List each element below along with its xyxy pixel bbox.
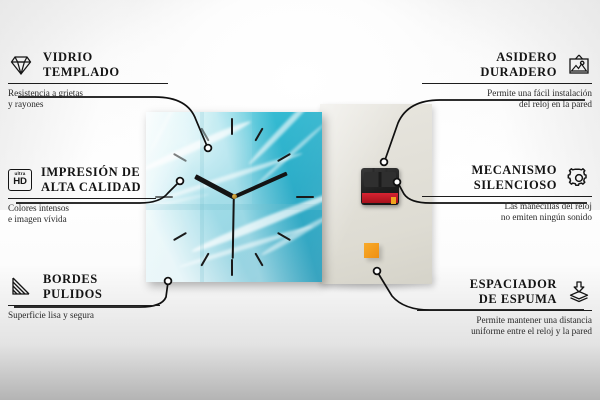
feature-divider <box>8 83 168 84</box>
feature-title: IMPRESIÓN DE ALTA CALIDAD <box>41 165 141 194</box>
feature-description: Resistencia a grietas y rayones <box>8 88 208 111</box>
feature-vidrio-templado: VIDRIO TEMPLADO Resistencia a grietas y … <box>8 50 208 111</box>
feature-impresion-alta-calidad: ultra HD IMPRESIÓN DE ALTA CALIDAD Color… <box>8 165 208 226</box>
diamond-icon <box>8 53 34 77</box>
connector-endpoint <box>205 145 212 152</box>
feature-title: ASIDERO DURADERO <box>480 50 557 79</box>
arrow-onto-layers-icon <box>566 280 592 304</box>
feature-divider <box>417 310 592 311</box>
connector-endpoint <box>374 268 381 275</box>
feature-mecanismo-silencioso: MECANISMO SILENCIOSO Las manecillas del … <box>392 163 592 224</box>
feature-asidero-duradero: ASIDERO DURADERO Permite una fácil insta… <box>392 50 592 111</box>
feature-bordes-pulidos: BORDES PULIDOS Superficie lisa y segura <box>8 272 208 321</box>
feature-title: ESPACIADOR DE ESPUMA <box>470 277 557 306</box>
feature-description: Superficie lisa y segura <box>8 310 208 321</box>
feature-title: BORDES PULIDOS <box>43 272 102 301</box>
feature-espaciador-espuma: ESPACIADOR DE ESPUMA Permite mantener un… <box>392 277 592 338</box>
polished-edge-lines-icon <box>8 275 34 299</box>
infographic-canvas: VIDRIO TEMPLADO Resistencia a grietas y … <box>0 0 600 400</box>
feature-divider <box>422 196 592 197</box>
feature-description: Permite mantener una distancia uniforme … <box>392 315 592 338</box>
feature-divider <box>422 83 592 84</box>
feature-divider <box>8 198 156 199</box>
feature-title: VIDRIO TEMPLADO <box>43 50 120 79</box>
feature-divider <box>8 305 160 306</box>
feature-title: MECANISMO SILENCIOSO <box>471 163 557 192</box>
gear-icon <box>566 166 592 190</box>
connector-endpoint <box>381 159 388 166</box>
feature-description: Permite una fácil instalación del reloj … <box>392 88 592 111</box>
ultra-hd-badge-icon: ultra HD <box>8 169 32 191</box>
feature-description: Las manecillas del reloj no emiten ningú… <box>392 201 592 224</box>
framed-picture-hanger-icon <box>566 53 592 77</box>
feature-description: Colores intensos e imagen vívida <box>8 203 208 226</box>
